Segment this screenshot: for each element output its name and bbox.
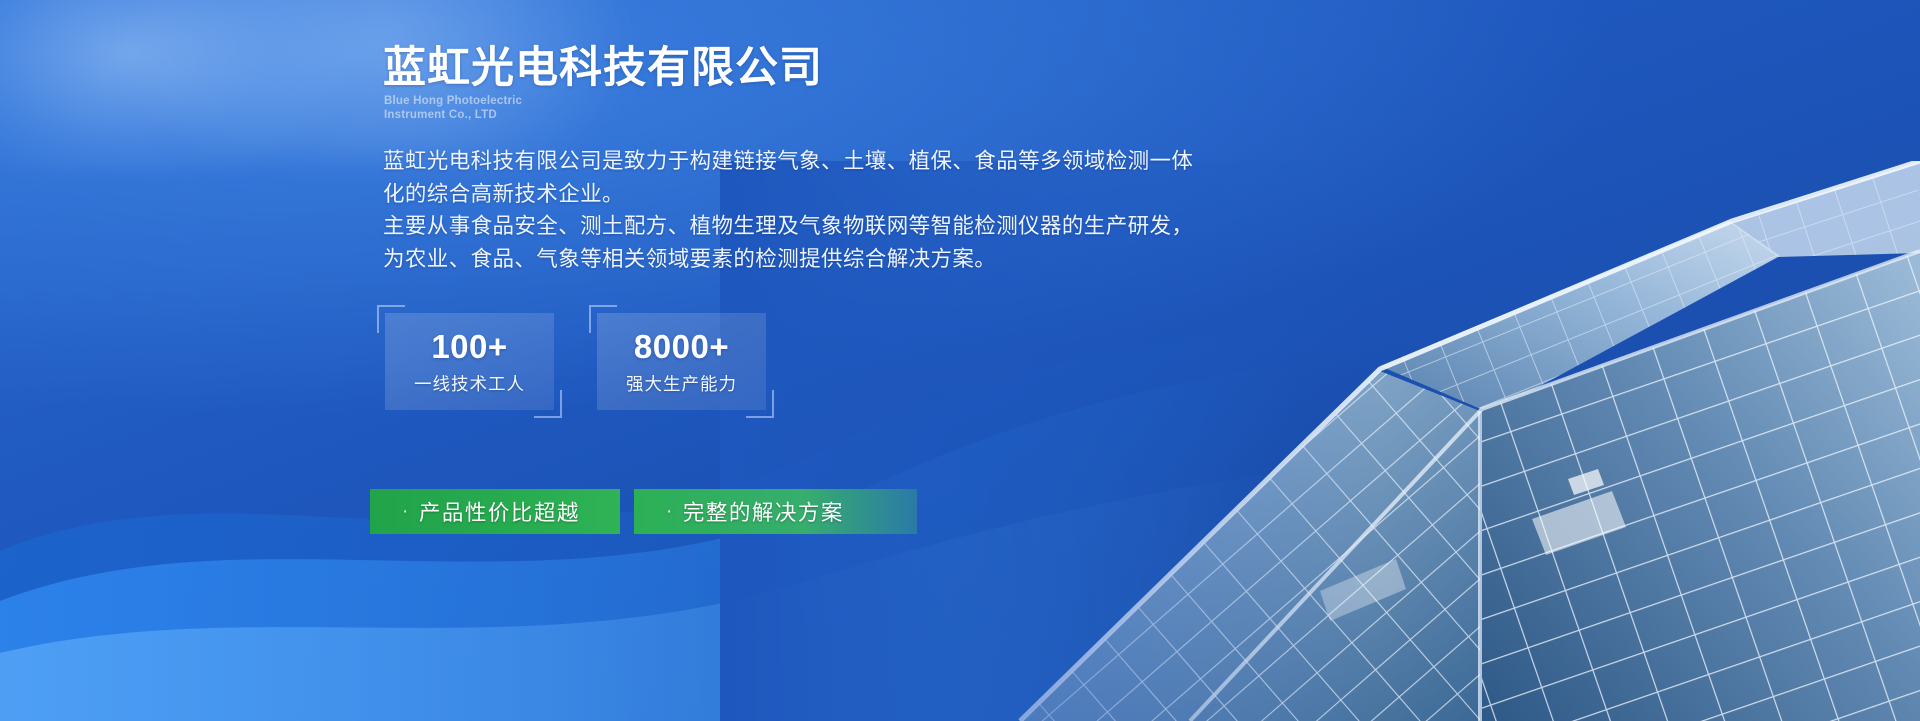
feature-tag-solution[interactable]: · 完整的解决方案 — [634, 489, 917, 534]
intro-paragraph-2-line-2: 为农业、食品、气象等相关领域要素的检测提供综合解决方案。 — [383, 243, 1183, 276]
feature-tag-label: 完整的解决方案 — [683, 496, 844, 527]
tag-divider — [620, 489, 634, 534]
bullet-dot-icon: · — [666, 502, 674, 521]
cloud-glow-icon — [0, 0, 360, 170]
intro-paragraph-2: 主要从事食品安全、测土配方、植物生理及气象物联网等智能检测仪器的生产研发， 为农… — [383, 210, 1183, 276]
stat-card-capacity: 8000+ 强大生产能力 — [597, 313, 766, 410]
intro-paragraph-1-line-2: 化的综合高新技术企业。 — [383, 178, 1183, 211]
stats-group: 100+ 一线技术工人 8000+ 强大生产能力 — [385, 313, 766, 410]
bullet-dot-icon: · — [402, 502, 410, 521]
stat-value: 100+ — [431, 327, 507, 367]
brand-subtitle: Blue Hong Photoelectric Instrument Co., … — [384, 94, 522, 122]
brand-subtitle-line-2: Instrument Co., LTD — [384, 108, 522, 122]
hero-content: 蓝虹光电科技有限公司 Blue Hong Photoelectric Instr… — [383, 0, 1543, 721]
stat-label: 一线技术工人 — [414, 371, 525, 397]
page-title: 蓝虹光电科技有限公司 — [383, 41, 823, 95]
intro-paragraph-1-line-1: 蓝虹光电科技有限公司是致力于构建链接气象、土壤、植保、食品等多领域检测一体 — [383, 145, 1183, 178]
hero-banner: 蓝虹光电科技有限公司 Blue Hong Photoelectric Instr… — [0, 0, 1920, 721]
brand-subtitle-line-1: Blue Hong Photoelectric — [384, 94, 522, 108]
feature-tag-value[interactable]: · 产品性价比超越 — [370, 489, 620, 534]
stat-value: 8000+ — [634, 327, 729, 367]
stat-label: 强大生产能力 — [626, 371, 737, 397]
intro-paragraph-2-line-1: 主要从事食品安全、测土配方、植物生理及气象物联网等智能检测仪器的生产研发， — [383, 210, 1183, 243]
feature-tag-label: 产品性价比超越 — [419, 496, 580, 527]
stat-card-technicians: 100+ 一线技术工人 — [385, 313, 554, 410]
feature-tags-group: · 产品性价比超越 · 完整的解决方案 — [370, 489, 917, 534]
intro-paragraph-1: 蓝虹光电科技有限公司是致力于构建链接气象、土壤、植保、食品等多领域检测一体 化的… — [383, 145, 1183, 211]
